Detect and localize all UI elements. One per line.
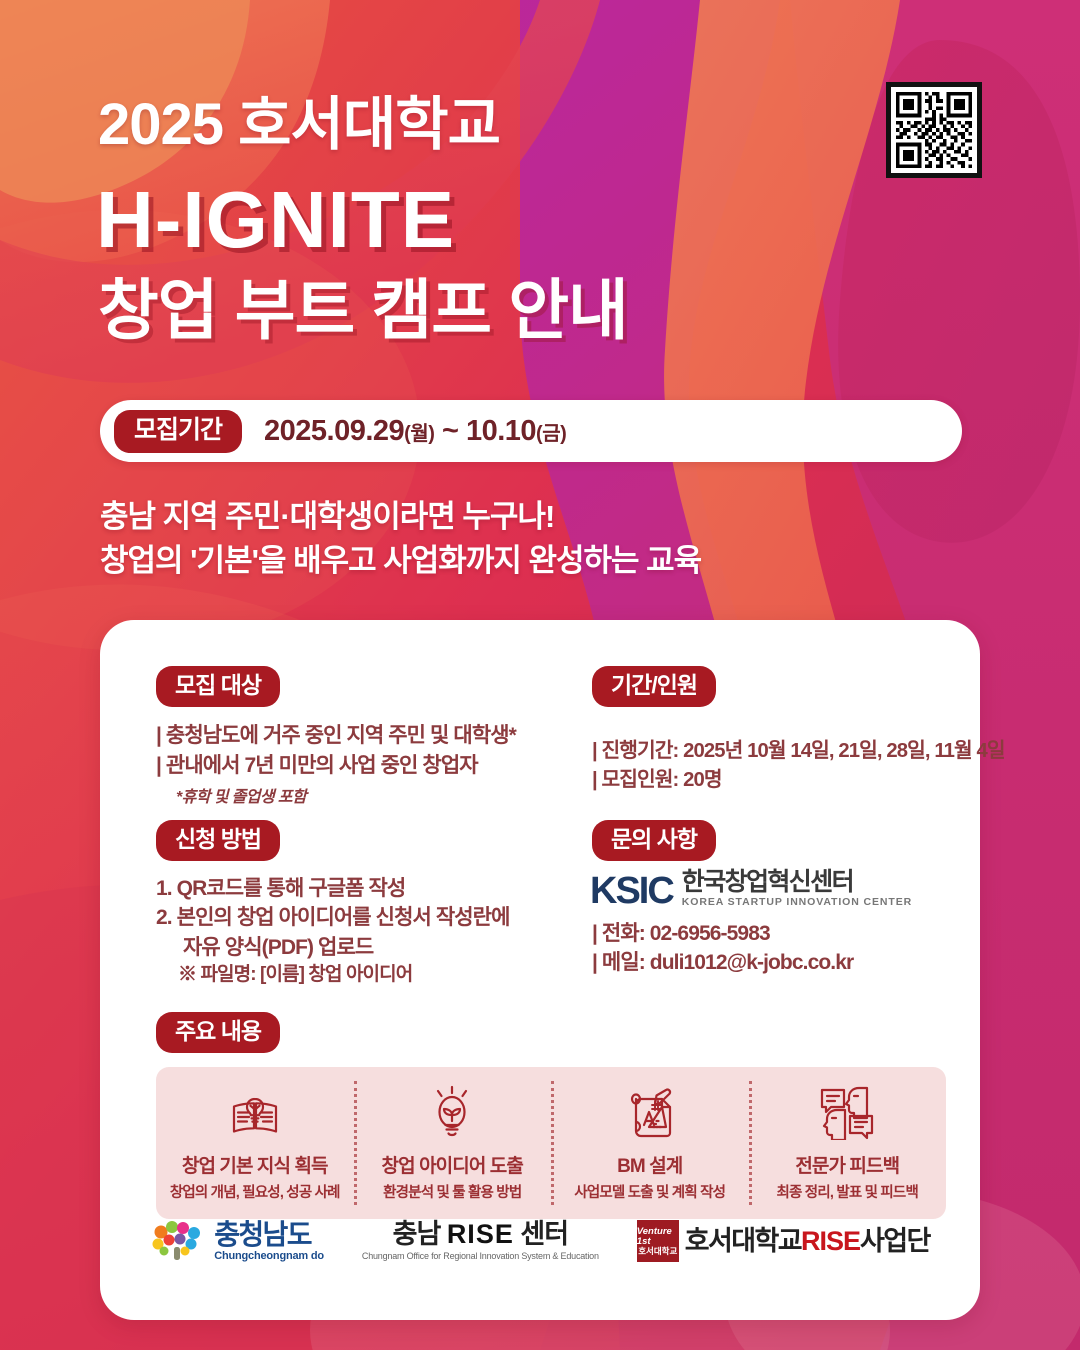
- recruit-period-badge: 모집기간: [114, 410, 242, 453]
- target-note: *휴학 및 졸업생 포함: [176, 783, 576, 807]
- logo-hoseo-rise: Venture 1st 호서대학교 호서대학교RISE사업단: [637, 1220, 930, 1262]
- ksic-english-name: KOREA STARTUP INNOVATION CENTER: [682, 897, 912, 908]
- period-tilde: ~: [442, 415, 458, 447]
- qr-code-icon[interactable]: [886, 82, 982, 178]
- target-item: | 충청남도에 거주 중인 지역 주민 및 대학생*: [156, 721, 576, 751]
- feature-title: BM 설계: [617, 1151, 682, 1178]
- rise-center-ko-left: 충남: [393, 1219, 441, 1249]
- hoseo-ko-left: 호서대학교: [685, 1226, 801, 1256]
- hoseo-ko-right: 사업단: [860, 1226, 930, 1256]
- apply-step-2: 2. 본인의 창업 아이디어를 신청서 작성란에: [156, 903, 576, 932]
- section-target-tag: 모집 대상: [156, 666, 280, 707]
- hoseo-rise-brand: RISE: [801, 1226, 860, 1256]
- ksic-korean-name: 한국창업혁신센터: [682, 870, 912, 895]
- hoseo-mark-line1: Venture 1st: [637, 1227, 679, 1247]
- section-apply-tag: 신청 방법: [156, 820, 280, 861]
- feature-desc: 최종 정리, 발표 및 피드백: [776, 1181, 918, 1202]
- feature-desc: 창업의 개념, 필요성, 성공 사례: [170, 1181, 340, 1202]
- feature-title: 창업 아이디어 도출: [382, 1151, 523, 1178]
- rise-center-brand: RISE: [447, 1219, 514, 1249]
- contact-email: | 메일: duli1012@k-jobc.co.kr: [592, 948, 992, 978]
- ksic-wordmark: KSIC: [590, 873, 673, 909]
- feature-desc: 사업모델 도출 및 계획 작성: [574, 1181, 725, 1202]
- lightbulb-sprout-icon: [426, 1084, 478, 1142]
- chungcheongnam-ko: 충청남도: [214, 1221, 324, 1249]
- section-contact-tag: 문의 사항: [592, 820, 716, 861]
- hoseo-venture-mark: Venture 1st 호서대학교: [637, 1220, 679, 1262]
- contact-phone: | 전화: 02-6956-5983: [592, 919, 992, 949]
- recruit-period-dates: 2025.09.29(월) ~ 10.10(금): [264, 415, 566, 448]
- ksic-logo: KSIC 한국창업혁신센터 KOREA STARTUP INNOVATION C…: [590, 870, 992, 910]
- page-title-year: 2025 호서대학교: [98, 96, 500, 154]
- feature-title: 전문가 피드백: [795, 1151, 899, 1178]
- feature-desc: 환경분석 및 툴 활용 방법: [383, 1181, 521, 1202]
- flower-logo-icon: [150, 1220, 206, 1262]
- open-book-lightbulb-icon: [226, 1084, 284, 1142]
- recruit-period-banner: 모집기간 2025.09.29(월) ~ 10.10(금): [100, 400, 962, 462]
- feature-band: 창업 기본 지식 획득 창업의 개념, 필요성, 성공 사례 창업 아이디어: [156, 1067, 946, 1219]
- chungcheongnam-en: Chungcheongnam do: [214, 1251, 324, 1262]
- section-schedule-tag: 기간/인원: [592, 666, 716, 707]
- lead-text: 충남 지역 주민·대학생이라면 누구나! 창업의 '기본'을 배우고 사업화까지…: [100, 495, 701, 583]
- rise-center-en: Chungnam Office for Regional Innovation …: [362, 1252, 599, 1261]
- feature-title: 창업 기본 지식 획득: [182, 1151, 328, 1178]
- feature-item: 창업 기본 지식 획득 창업의 개념, 필요성, 성공 사례: [156, 1067, 354, 1219]
- schedule-item: | 진행기간: 2025년 10월 14일, 21일, 28일, 11월 4일: [592, 737, 992, 766]
- page-title-main: H-IGNITE: [96, 180, 455, 260]
- period-end-day: (금): [536, 423, 566, 445]
- section-target: 모집 대상 | 충청남도에 거주 중인 지역 주민 및 대학생* | 관내에서 …: [156, 666, 576, 807]
- lead-line-2: 창업의 '기본'을 배우고 사업화까지 완성하는 교육: [100, 539, 701, 583]
- logo-rise-center: 충남 RISE 센터 Chungnam Office for Regional …: [362, 1221, 599, 1261]
- schedule-item: | 모집인원: 20명: [592, 766, 992, 795]
- footer-logos: 충청남도 Chungcheongnam do 충남 RISE 센터 Chungn…: [100, 1220, 980, 1262]
- blueprint-pencil-icon: [622, 1084, 678, 1142]
- period-start-day: (월): [404, 423, 434, 445]
- apply-note: ※ 파일명: [이름] 창업 아이디어: [156, 962, 576, 989]
- lead-line-1: 충남 지역 주민·대학생이라면 누구나!: [100, 495, 701, 539]
- section-contact: 문의 사항 KSIC 한국창업혁신센터 KOREA STARTUP INNOVA…: [592, 820, 992, 978]
- target-item: | 관내에서 7년 미만의 사업 중인 창업자: [156, 751, 576, 781]
- feature-item: 창업 아이디어 도출 환경분석 및 툴 활용 방법: [354, 1067, 552, 1219]
- section-content: 주요 내용 창업 기본 지식 획득 창업의 개념, 필요성, 성공 사례: [156, 1012, 946, 1219]
- section-content-tag: 주요 내용: [156, 1012, 280, 1053]
- apply-step-1: 1. QR코드를 통해 구글폼 작성: [156, 874, 576, 903]
- feature-item: 전문가 피드백 최종 정리, 발표 및 피드백: [749, 1067, 947, 1219]
- period-end-date: 10.10: [466, 415, 536, 447]
- speech-feedback-icon: [818, 1084, 876, 1142]
- rise-center-ko-right: 센터: [520, 1219, 568, 1249]
- logo-chungcheongnam: 충청남도 Chungcheongnam do: [150, 1220, 324, 1262]
- apply-step-2b: 자유 양식(PDF) 업로드: [156, 933, 576, 962]
- period-start-date: 2025.09.29: [264, 415, 404, 447]
- page-title-sub: 창업 부트 캠프 안내: [98, 277, 628, 343]
- section-schedule: 기간/인원 | 진행기간: 2025년 10월 14일, 21일, 28일, 1…: [592, 666, 992, 795]
- hoseo-mark-line2: 호서대학교: [638, 1247, 677, 1256]
- info-card: 모집 대상 | 충청남도에 거주 중인 지역 주민 및 대학생* | 관내에서 …: [100, 620, 980, 1320]
- feature-item: BM 설계 사업모델 도출 및 계획 작성: [551, 1067, 749, 1219]
- section-apply: 신청 방법 1. QR코드를 통해 구글폼 작성 2. 본인의 창업 아이디어를…: [156, 820, 576, 989]
